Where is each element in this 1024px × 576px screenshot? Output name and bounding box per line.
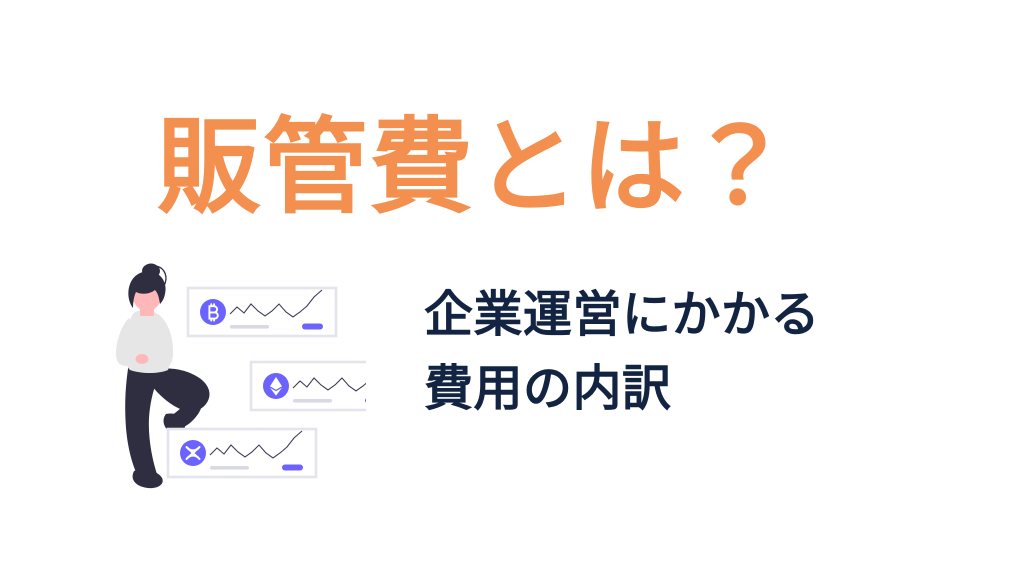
bitcoin-price-card (188, 288, 336, 336)
page-title: 販管費とは？ (157, 104, 877, 230)
subtitle: 企業運営にかかる 費用の内訳 (424, 278, 984, 426)
person-back-shoe (133, 469, 163, 488)
ethereum-label-placeholder (293, 399, 332, 403)
bitcoin-label-placeholder (230, 325, 269, 329)
xrp-label-placeholder (210, 466, 249, 470)
bitcoin-accent-pill (302, 324, 323, 330)
person-hand (136, 354, 149, 364)
xrp-accent-pill (282, 465, 303, 471)
hero-illustration (96, 262, 366, 497)
ethereum-price-card (251, 362, 366, 410)
slide-canvas: 販管費とは？ 企業運営にかかる 費用の内訳 (0, 0, 1024, 576)
bitcoin-glyph (209, 304, 217, 320)
subtitle-line-1: 企業運営にかかる (424, 278, 984, 352)
subtitle-line-2: 費用の内訳 (424, 352, 984, 426)
xrp-price-card (168, 429, 316, 477)
